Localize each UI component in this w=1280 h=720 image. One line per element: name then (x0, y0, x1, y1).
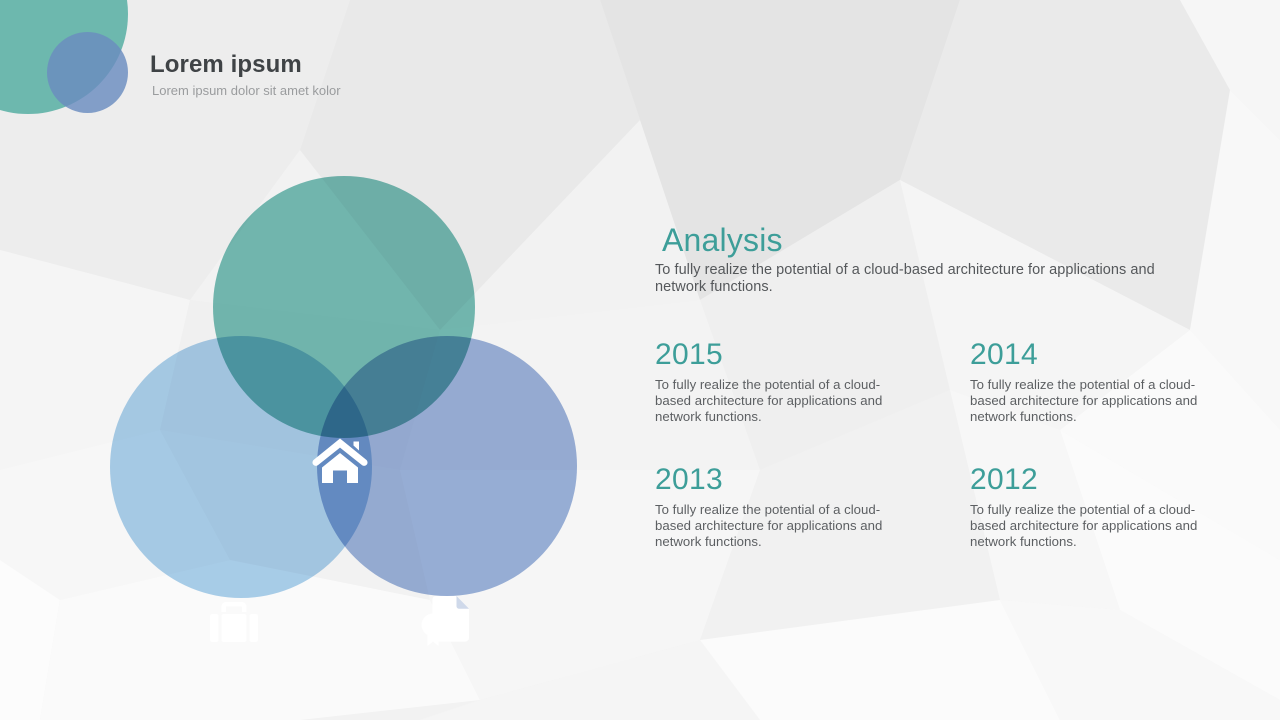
page-subtitle: Lorem ipsum dolor sit amet kolor (152, 84, 341, 98)
year-text: To fully realize the potential of a clou… (655, 502, 885, 550)
home-icon (312, 436, 368, 486)
year-text: To fully realize the potential of a clou… (970, 502, 1200, 550)
year-label: 2015 (655, 338, 970, 371)
year-text: To fully realize the potential of a clou… (970, 377, 1200, 425)
year-block-2015[interactable]: 2015 To fully realize the potential of a… (655, 338, 970, 463)
year-block-2013[interactable]: 2013 To fully realize the potential of a… (655, 463, 970, 588)
year-label: 2012 (970, 463, 1255, 496)
analysis-section: Analysis To fully realize the potential … (655, 222, 1255, 296)
venn-diagram (105, 170, 585, 605)
year-grid: 2015 To fully realize the potential of a… (655, 338, 1255, 588)
slide-header: Lorem ipsum Lorem ipsum dolor sit amet k… (150, 52, 341, 99)
year-block-2014[interactable]: 2014 To fully realize the potential of a… (970, 338, 1255, 463)
decorative-circle-blue (47, 32, 128, 113)
page-title: Lorem ipsum (150, 52, 341, 78)
analysis-heading: Analysis (662, 222, 1255, 260)
certificate-icon (418, 593, 474, 647)
briefcase-icon (208, 598, 260, 646)
year-text: To fully realize the potential of a clou… (655, 377, 885, 425)
slide-canvas: Lorem ipsum Lorem ipsum dolor sit amet k… (0, 0, 1280, 720)
year-label: 2013 (655, 463, 970, 496)
year-block-2012[interactable]: 2012 To fully realize the potential of a… (970, 463, 1255, 588)
year-label: 2014 (970, 338, 1255, 371)
analysis-description: To fully realize the potential of a clou… (655, 262, 1175, 296)
